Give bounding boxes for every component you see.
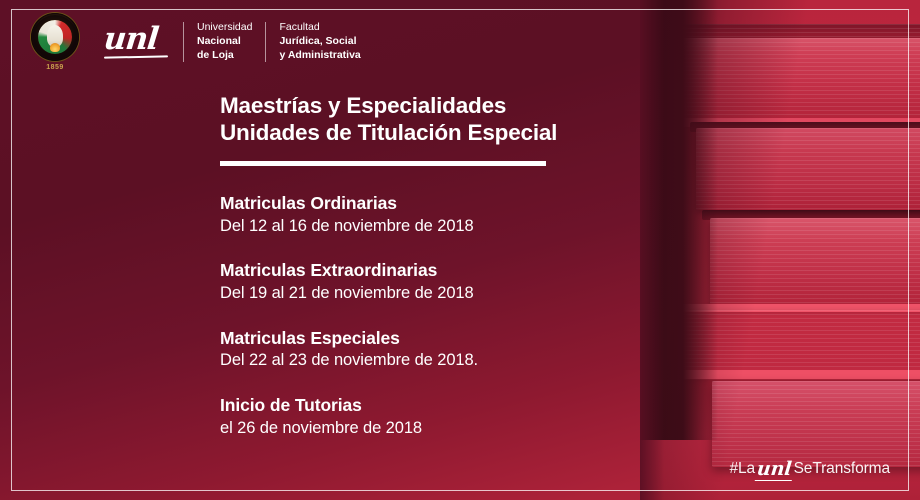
header-divider-1 bbox=[183, 22, 184, 62]
hashtag-unl-mark: unl bbox=[756, 460, 792, 478]
faculty-line-1: Facultad bbox=[279, 21, 360, 35]
unl-wordmark: unl bbox=[104, 26, 170, 59]
entry-date: Del 22 al 23 de noviembre de 2018. bbox=[220, 350, 640, 371]
faculty-line-2: Jurídica, Social bbox=[279, 35, 360, 49]
brand-header: 1859 unl Universidad Nacional de Loja Fa… bbox=[24, 12, 361, 72]
university-seal-block: 1859 bbox=[24, 13, 86, 71]
poster-content: Maestrías y Especialidades Unidades de T… bbox=[220, 92, 640, 439]
hashtag-suffix: SeTransforma bbox=[794, 460, 890, 478]
university-line-3: de Loja bbox=[197, 49, 252, 63]
entry-name: Matriculas Ordinarias bbox=[220, 193, 640, 215]
page-title: Maestrías y Especialidades Unidades de T… bbox=[220, 92, 640, 147]
title-underline-rule bbox=[220, 161, 546, 166]
schedule-list: Matriculas Ordinarias Del 12 al 16 de no… bbox=[220, 193, 640, 439]
photo-left-fade bbox=[640, 0, 664, 500]
entry-date: Del 19 al 21 de noviembre de 2018 bbox=[220, 283, 640, 304]
page-title-line-2: Unidades de Titulación Especial bbox=[220, 119, 640, 146]
university-seal-icon bbox=[31, 13, 79, 61]
seal-year-label: 1859 bbox=[46, 64, 64, 71]
faculty-line-3: y Administrativa bbox=[279, 49, 360, 63]
photo-color-tint bbox=[640, 0, 920, 500]
hashtag-prefix: #La bbox=[729, 460, 755, 478]
list-item: Matriculas Especiales Del 22 al 23 de no… bbox=[220, 328, 640, 372]
promotional-poster: 1859 unl Universidad Nacional de Loja Fa… bbox=[0, 0, 920, 500]
hashtag-unl-swash bbox=[755, 480, 792, 482]
entry-name: Inicio de Tutorias bbox=[220, 395, 640, 417]
hashtag-unl-text: unl bbox=[756, 458, 793, 480]
university-line-2: Nacional bbox=[197, 35, 252, 49]
list-item: Inicio de Tutorias el 26 de noviembre de… bbox=[220, 395, 640, 439]
entry-name: Matriculas Especiales bbox=[220, 328, 640, 350]
list-item: Matriculas Ordinarias Del 12 al 16 de no… bbox=[220, 193, 640, 237]
entry-name: Matriculas Extraordinarias bbox=[220, 260, 640, 282]
university-name-block: Universidad Nacional de Loja bbox=[197, 21, 252, 63]
seal-ring bbox=[33, 15, 77, 59]
entry-date: Del 12 al 16 de noviembre de 2018 bbox=[220, 216, 640, 237]
unl-wordmark-text: unl bbox=[103, 26, 172, 54]
entry-date: el 26 de noviembre de 2018 bbox=[220, 418, 640, 439]
page-title-line-1: Maestrías y Especialidades bbox=[220, 92, 640, 119]
header-divider-2 bbox=[265, 22, 266, 62]
campaign-hashtag: #La unl SeTransforma bbox=[729, 460, 890, 478]
university-line-1: Universidad bbox=[197, 21, 252, 35]
book-stack-photo bbox=[640, 0, 920, 500]
list-item: Matriculas Extraordinarias Del 19 al 21 … bbox=[220, 260, 640, 304]
unl-wordmark-swash bbox=[104, 56, 168, 59]
faculty-name-block: Facultad Jurídica, Social y Administrati… bbox=[279, 21, 360, 63]
